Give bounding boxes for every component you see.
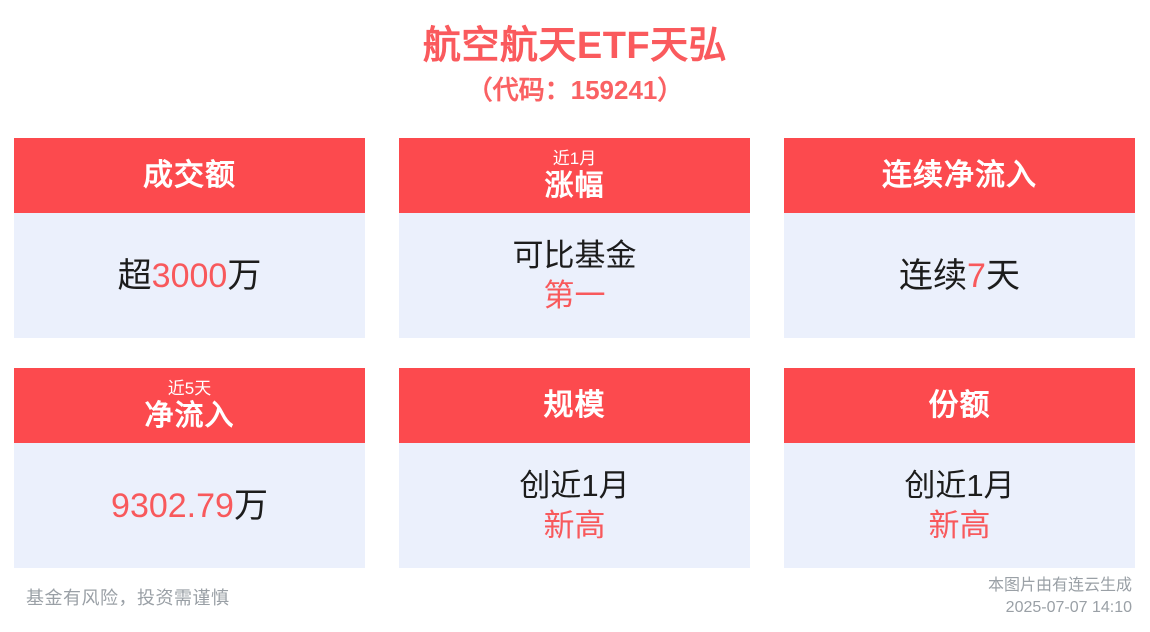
generator-label: 本图片由有连云生成 bbox=[988, 575, 1132, 597]
metric-value-text: 可比基金 bbox=[513, 238, 637, 273]
metric-card: 近1月涨幅可比基金第一 bbox=[399, 138, 750, 338]
metric-card-value-line: 创近1月 bbox=[519, 466, 629, 506]
metric-value-text: 超 bbox=[118, 257, 152, 295]
metric-card-header-label: 成交额 bbox=[143, 158, 236, 194]
metric-card-body: 超3000万 bbox=[14, 213, 365, 338]
metric-card-value-line: 新高 bbox=[929, 506, 991, 546]
metric-card-value-line: 创近1月 bbox=[904, 466, 1014, 506]
metric-card: 份额创近1月新高 bbox=[784, 368, 1135, 568]
metric-card-body: 创近1月新高 bbox=[399, 443, 750, 568]
metric-card-header-label: 规模 bbox=[544, 388, 606, 424]
metric-value-text: 天 bbox=[986, 257, 1020, 295]
metric-card: 近5天净流入9302.79万 bbox=[14, 368, 365, 568]
metric-value-highlight: 9302.79 bbox=[111, 487, 234, 525]
metric-card-body: 创近1月新高 bbox=[784, 443, 1135, 568]
metric-card-header: 成交额 bbox=[14, 138, 365, 213]
metric-card-value-line: 可比基金 bbox=[513, 236, 637, 276]
metric-card-header: 份额 bbox=[784, 368, 1135, 443]
metric-value-text: 连续 bbox=[899, 257, 967, 295]
metric-value-text: 创近1月 bbox=[519, 468, 629, 503]
metric-card-value-line: 超3000万 bbox=[118, 254, 262, 298]
metric-card-value-line: 新高 bbox=[544, 506, 606, 546]
metric-card: 连续净流入连续7天 bbox=[784, 138, 1135, 338]
metric-card-body: 可比基金第一 bbox=[399, 213, 750, 338]
metric-card-value-line: 连续7天 bbox=[899, 254, 1020, 298]
footer: 基金有风险，投资需谨慎 本图片由有连云生成 2025-07-07 14:10 bbox=[0, 570, 1150, 632]
title-block: 航空航天ETF天弘 （代码：159241） bbox=[0, 0, 1150, 108]
metric-value-text: 创近1月 bbox=[904, 468, 1014, 503]
metric-card-body: 连续7天 bbox=[784, 213, 1135, 338]
metric-value-highlight: 第一 bbox=[544, 278, 606, 313]
metric-card-header-period: 近5天 bbox=[168, 378, 211, 399]
metric-card-header: 规模 bbox=[399, 368, 750, 443]
metric-card-header-label: 涨幅 bbox=[544, 169, 604, 203]
metric-card-header: 连续净流入 bbox=[784, 138, 1135, 213]
metric-card-header: 近1月涨幅 bbox=[399, 138, 750, 213]
metric-card-header-label: 净流入 bbox=[144, 399, 234, 433]
metric-value-highlight: 3000 bbox=[152, 257, 228, 295]
metric-card-value-line: 9302.79万 bbox=[111, 484, 268, 528]
metric-card-header-label: 份额 bbox=[929, 388, 991, 424]
risk-disclaimer: 基金有风险，投资需谨慎 bbox=[26, 584, 230, 610]
metric-card: 成交额超3000万 bbox=[14, 138, 365, 338]
metric-card-header: 近5天净流入 bbox=[14, 368, 365, 443]
fund-code-line: （代码：159241） bbox=[0, 72, 1150, 108]
metric-value-text: 万 bbox=[227, 257, 261, 295]
metric-value-highlight: 新高 bbox=[929, 508, 991, 543]
page-title: 航空航天ETF天弘 bbox=[0, 22, 1150, 70]
metric-card-header-period: 近1月 bbox=[553, 148, 596, 169]
metric-value-highlight: 新高 bbox=[544, 508, 606, 543]
metric-card-grid: 成交额超3000万近1月涨幅可比基金第一连续净流入连续7天近5天净流入9302.… bbox=[14, 138, 1136, 568]
generator-info: 本图片由有连云生成 2025-07-07 14:10 bbox=[988, 575, 1132, 619]
metric-value-highlight: 7 bbox=[967, 257, 986, 295]
generated-timestamp: 2025-07-07 14:10 bbox=[988, 597, 1132, 619]
metric-card-header-label: 连续净流入 bbox=[882, 158, 1037, 194]
etf-summary-page: 航空航天ETF天弘 （代码：159241） 成交额超3000万近1月涨幅可比基金… bbox=[0, 0, 1150, 632]
metric-value-text: 万 bbox=[234, 487, 268, 525]
metric-card-body: 9302.79万 bbox=[14, 443, 365, 568]
metric-card-value-line: 第一 bbox=[544, 276, 606, 316]
metric-card: 规模创近1月新高 bbox=[399, 368, 750, 568]
